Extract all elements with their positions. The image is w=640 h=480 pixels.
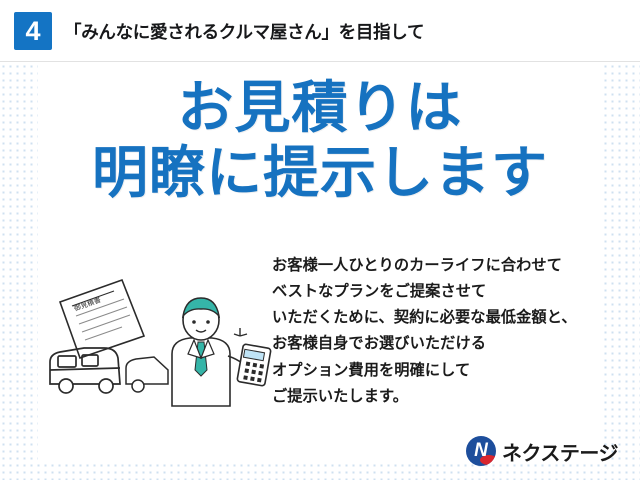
estimate-document-icon: 御見積書 [60,280,144,358]
body-line-4: お客様自身でお選びいただける [272,331,612,357]
body-line-5: オプション費用を明確にして [272,358,612,384]
car-icon [50,348,120,393]
flyer-page: 4 「みんなに愛されるクルマ屋さん」を目指して お見積りは 明瞭に提示します お… [0,0,640,480]
sparkle-icon [234,328,247,336]
body-copy: お客様一人ひとりのカーライフに合わせて ベストなプランをご提案させて いただくた… [272,253,612,410]
brand-name: ネクステージ [502,437,618,466]
header-divider [0,61,640,62]
nextage-logo-icon: N [466,436,496,466]
body-line-3: いただくために、契約に必要な最低金額と、 [272,305,612,331]
logo-initial: N [474,440,488,462]
section-number-badge: 4 [14,12,52,50]
body-line-2: ベストなプランをご提案させて [272,279,612,305]
headline-line-1: お見積りは [178,76,463,139]
body-line-6: ご提示いたします。 [272,384,612,410]
illustration-svg: 御見積書 [44,258,276,418]
calculator-icon [237,344,271,386]
headline-line-2: 明瞭に提示します [0,143,640,202]
salesperson-illustration [172,298,271,406]
body-line-1: お客様一人ひとりのカーライフに合わせて [272,253,612,279]
illustration: 御見積書 [44,258,276,418]
brand-logo: N ネクステージ [466,436,618,466]
header-bar: 4 「みんなに愛されるクルマ屋さん」を目指して [0,0,640,62]
headline: お見積りは 明瞭に提示します [0,78,640,203]
car-icon-secondary [126,357,168,392]
header-title: 「みんなに愛されるクルマ屋さん」を目指して [64,19,424,44]
